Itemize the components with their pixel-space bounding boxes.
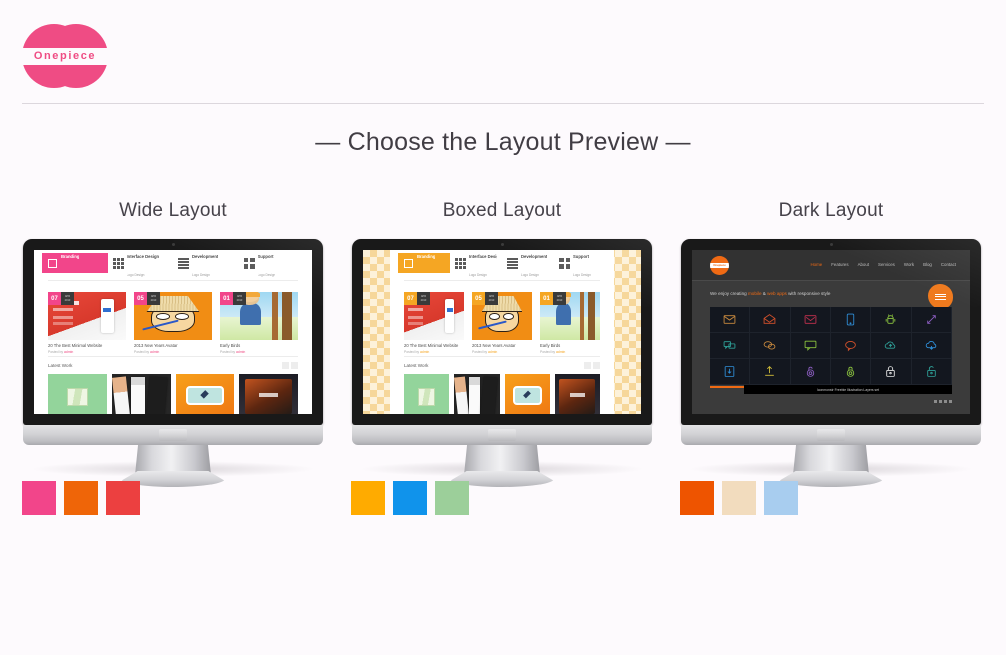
webcam-icon [172, 243, 175, 246]
card-meta: Posted by admin [404, 350, 464, 354]
nav-title: Support [573, 254, 589, 259]
icon-showcase-grid [710, 307, 952, 385]
grid-icon [113, 258, 124, 269]
work-item[interactable] [404, 374, 449, 414]
dark-nav-item-features[interactable]: Features [831, 262, 848, 267]
preview-card[interactable]: 01 APR2013 Early Birds Posted by admin [220, 292, 298, 354]
color-swatches-wide [22, 481, 140, 515]
card-title: Early Birds [540, 343, 600, 348]
work-item[interactable] [555, 374, 600, 414]
card-title: 2013 New Years Avatar [472, 343, 532, 348]
speech-bubbles-icon [750, 333, 790, 359]
monitor-screen: Branding Logo Design Interface Design Lo… [363, 250, 641, 414]
card-number-badge: 01 [220, 292, 233, 305]
monitor-screen: Onepiece Home Features About Services Wo… [692, 250, 970, 414]
preview-card[interactable]: 05 APR2013 2013 New Years Avatar Posted … [472, 292, 532, 354]
dark-nav-item-contact[interactable]: Contact [941, 262, 956, 267]
dark-tagline: We enjoy creating mobile & web apps with… [710, 291, 830, 296]
dark-nav-item-services[interactable]: Services [878, 262, 895, 267]
color-swatch[interactable] [764, 481, 798, 515]
card-title: 20 The Best Minimal Website [404, 343, 464, 348]
logo-text: Onepiece [34, 51, 96, 62]
dark-nav-item-work[interactable]: Work [904, 262, 914, 267]
card-number-badge: 07 [404, 292, 417, 305]
dark-nav-item-home[interactable]: Home [811, 262, 823, 267]
nav-divider [48, 280, 298, 281]
card-thumbnail: 05 APR2013 [472, 292, 532, 340]
nav-item-branding[interactable]: Branding Logo Design [398, 253, 450, 273]
card-thumbnail: 05 APR2013 [134, 292, 212, 340]
mail-open-icon [750, 307, 790, 333]
latest-work-arrows[interactable] [282, 362, 298, 369]
boxed-content-area: Branding Logo Design Interface Design Lo… [390, 250, 614, 414]
nav-subtitle: Logo Design [61, 273, 79, 277]
lines-icon [507, 258, 518, 269]
chat-bubbles-icon [710, 333, 750, 359]
color-swatches-dark [680, 481, 798, 515]
padlock-locked-icon [871, 359, 911, 385]
dark-caption: Iconmonstr Freebie Illustration Layers s… [744, 385, 952, 394]
preview-nav[interactable]: Branding Logo Design Interface Design Lo… [34, 250, 312, 273]
preview-card[interactable]: 07 APR2013 20 The Best Minimal Website P… [404, 292, 464, 354]
speech-bubble-icon [831, 333, 871, 359]
nav-item-interface-design[interactable]: Interface Design Logo Design [108, 253, 174, 273]
card-meta: Posted by admin [134, 350, 212, 354]
monitor-neck [135, 445, 211, 475]
nav-item-development[interactable]: Development Logo Design [502, 253, 554, 273]
site-preview-boxed: Branding Logo Design Interface Design Lo… [363, 250, 641, 414]
dark-nav-item-blog[interactable]: Blog [923, 262, 932, 267]
site-preview-wide: Branding Logo Design Interface Design Lo… [34, 250, 312, 414]
page-header: Onepiece [0, 0, 1006, 104]
preview-cards: 07 APR2013 20 The Best Minimal Website P… [404, 292, 600, 354]
color-swatch[interactable] [722, 481, 756, 515]
nav-title: Development [192, 254, 218, 259]
work-item[interactable] [48, 374, 107, 414]
preview-card[interactable]: 07 APR2013 20 The Best Minimal Website P… [48, 292, 126, 354]
card-thumbnail: 07 APR2013 [48, 292, 126, 340]
frame-icon [47, 258, 58, 269]
nav-item-support[interactable]: Support Logo Design [554, 253, 606, 273]
nav-subtitle: Logo Design [521, 273, 539, 277]
card-number-badge: 07 [48, 292, 61, 305]
latest-work-label: Latest Work [48, 363, 72, 368]
card-date-badge: APR2013 [485, 292, 498, 305]
work-item[interactable] [454, 374, 499, 414]
monitor-preview-wide[interactable]: Branding Logo Design Interface Design Lo… [8, 239, 338, 494]
nav-subtitle: Logo Design [258, 273, 276, 277]
grid-icon [455, 258, 466, 269]
card-title: 2013 New Years Avatar [134, 343, 212, 348]
color-swatch[interactable] [22, 481, 56, 515]
site-preview-dark: Onepiece Home Features About Services Wo… [692, 250, 970, 414]
dark-nav-item-about[interactable]: About [858, 262, 869, 267]
nav-divider [404, 280, 600, 281]
monitor-chin [23, 425, 323, 445]
latest-work-grid [48, 374, 298, 414]
layout-option-boxed[interactable]: Boxed Layout Branding Logo Design [337, 200, 667, 494]
card-date-badge: APR2013 [233, 292, 246, 305]
menu-blob-button[interactable] [928, 284, 953, 309]
monitor-preview-boxed[interactable]: Branding Logo Design Interface Design Lo… [337, 239, 667, 494]
nav-title: Support [258, 254, 274, 259]
nav-subtitle: Logo Design [469, 273, 487, 277]
logo-band: Onepiece [22, 48, 108, 65]
monitor-bezel: Branding Logo Design Interface Design Lo… [352, 239, 652, 425]
nav-item-interface-design[interactable]: Interface Design Logo Design [450, 253, 502, 273]
nav-item-development[interactable]: Development Logo Design [173, 253, 239, 273]
latest-work-divider [404, 356, 600, 357]
webcam-icon [501, 243, 504, 246]
card-thumbnail: 01 APR2013 [540, 292, 600, 340]
monitor-preview-dark[interactable]: Onepiece Home Features About Services Wo… [666, 239, 996, 494]
preview-cards: 07 APR2013 20 The Best Minimal Website P… [48, 292, 298, 354]
next-arrow-icon [593, 362, 600, 369]
dark-nav[interactable]: Home Features About Services Work Blog C… [811, 262, 956, 267]
work-item[interactable] [176, 374, 235, 414]
monitor-neck [793, 445, 869, 475]
nav-title: Interface Design [469, 254, 497, 259]
preview-card[interactable]: 01 APR2013 Early Birds Posted by admin [540, 292, 600, 354]
nav-item-support[interactable]: Support Logo Design [239, 253, 305, 273]
mail-closed-icon [791, 307, 831, 333]
webcam-icon [830, 243, 833, 246]
color-swatches-boxed [351, 481, 469, 515]
monitor-bezel: Branding Logo Design Interface Design Lo… [23, 239, 323, 425]
latest-work-grid [404, 374, 600, 414]
nav-subtitle: Logo Design [127, 273, 145, 277]
corners-icon [559, 258, 570, 269]
color-swatch[interactable] [351, 481, 385, 515]
card-number-badge: 01 [540, 292, 553, 305]
preview-card[interactable]: 05 APR2013 2013 New Years Avatar Posted … [134, 292, 212, 354]
page-title: — Choose the Layout Preview — [0, 128, 1006, 157]
card-title: 20 The Best Minimal Website [48, 343, 126, 348]
color-swatch[interactable] [106, 481, 140, 515]
nav-subtitle: Logo Design [192, 273, 210, 277]
comment-box-icon [791, 333, 831, 359]
envelope-icon [710, 307, 750, 333]
padlock-unlocked-icon [912, 359, 952, 385]
card-date-badge: APR2013 [61, 292, 74, 305]
card-meta: Posted by admin [220, 350, 298, 354]
resize-arrow-icon [912, 307, 952, 333]
prev-arrow-icon [282, 362, 289, 369]
nav-subtitle: Logo Design [573, 273, 591, 277]
work-item[interactable] [505, 374, 550, 414]
card-number-badge: 05 [472, 292, 485, 305]
color-swatch[interactable] [64, 481, 98, 515]
card-title: Early Birds [220, 343, 298, 348]
work-item[interactable] [112, 374, 171, 414]
monitor-chin [352, 425, 652, 445]
slider-dots[interactable] [934, 400, 952, 403]
card-date-badge: APR2013 [553, 292, 566, 305]
color-swatch[interactable] [680, 481, 714, 515]
corners-icon [244, 258, 255, 269]
preview-nav[interactable]: Branding Logo Design Interface Design Lo… [390, 250, 614, 273]
brand-logo[interactable]: Onepiece [22, 22, 108, 90]
latest-work-divider [48, 356, 298, 357]
slide-progress-bar [710, 386, 748, 388]
download-box-icon [710, 359, 750, 385]
nav-title: Development [521, 254, 547, 259]
android-icon [871, 307, 911, 333]
frame-icon [403, 258, 414, 269]
smartphone-icon [831, 307, 871, 333]
card-thumbnail: 07 APR2013 [404, 292, 464, 340]
monitor-chin [681, 425, 981, 445]
color-swatch[interactable] [393, 481, 427, 515]
header-divider [22, 103, 984, 104]
layout-option-dark[interactable]: Dark Layout Onepiece Home Features About… [666, 200, 996, 494]
unlock-spiral-icon [831, 359, 871, 385]
dark-logo-text: Onepiece [710, 263, 729, 268]
nav-subtitle: Logo Design [417, 273, 435, 277]
layout-title-wide: Wide Layout [8, 200, 338, 222]
lock-spiral-icon [791, 359, 831, 385]
lines-icon [178, 258, 189, 269]
monitor-neck [464, 445, 540, 475]
prev-arrow-icon [584, 362, 591, 369]
upload-icon [750, 359, 790, 385]
monitor-screen: Branding Logo Design Interface Design Lo… [34, 250, 312, 414]
monitor-bezel: Onepiece Home Features About Services Wo… [681, 239, 981, 425]
nav-title: Branding [61, 254, 79, 259]
nav-title: Branding [417, 254, 435, 259]
nav-item-branding[interactable]: Branding Logo Design [42, 253, 108, 273]
work-item[interactable] [239, 374, 298, 414]
card-date-badge: APR2013 [147, 292, 160, 305]
card-thumbnail: 01 APR2013 [220, 292, 298, 340]
latest-work-label: Latest Work [404, 363, 428, 368]
card-meta: Posted by admin [540, 350, 600, 354]
card-number-badge: 05 [134, 292, 147, 305]
latest-work-arrows[interactable] [584, 362, 600, 369]
card-date-badge: APR2013 [417, 292, 430, 305]
cloud-download-icon [912, 333, 952, 359]
layout-option-wide[interactable]: Wide Layout Branding Logo Design [8, 200, 338, 494]
card-meta: Posted by admin [48, 350, 126, 354]
card-meta: Posted by admin [472, 350, 532, 354]
cloud-upload-icon [871, 333, 911, 359]
layout-title-boxed: Boxed Layout [337, 200, 667, 222]
color-swatch[interactable] [435, 481, 469, 515]
layout-title-dark: Dark Layout [666, 200, 996, 222]
dark-brand-logo[interactable]: Onepiece [710, 256, 729, 275]
nav-title: Interface Design [127, 254, 160, 259]
next-arrow-icon [291, 362, 298, 369]
